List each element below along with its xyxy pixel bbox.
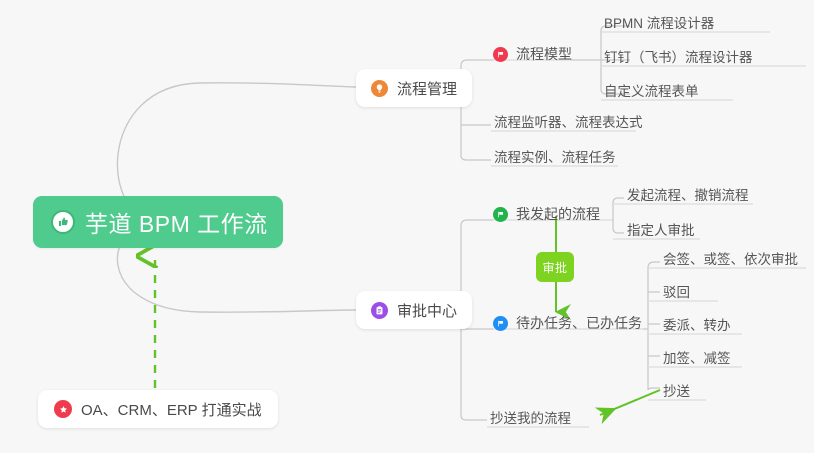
mindmap-canvas: 芋道 BPM 工作流 流程管理 审批中心	[0, 0, 814, 453]
leaf-assigned-approval[interactable]: 指定人审批	[627, 219, 695, 239]
connector-todo-to-cc	[648, 388, 660, 390]
leaf-custom-form[interactable]: 自定义流程表单	[604, 80, 699, 100]
leaf-label-instance-task: 流程实例、流程任务	[494, 146, 616, 166]
leaf-label-bpmn-designer: BPMN 流程设计器	[604, 12, 714, 32]
leaf-cc-to-me[interactable]: 抄送我的流程	[490, 407, 571, 427]
connector-pm-to-model	[461, 60, 493, 66]
connector-pm-to-instance	[461, 155, 491, 160]
lightbulb-icon	[371, 80, 388, 97]
leaf-dingtalk-designer[interactable]: 钉钉（飞书）流程设计器	[604, 46, 753, 66]
node-label-process-model: 流程模型	[516, 44, 572, 64]
leaf-label-assigned-approval: 指定人审批	[627, 219, 695, 239]
connector-ac-to-cc-mine	[461, 415, 487, 420]
branch-node-process-management[interactable]: 流程管理	[356, 69, 472, 107]
leaf-label-reject: 驳回	[663, 281, 690, 301]
flag-red-icon	[493, 47, 508, 62]
leaf-listener-expression[interactable]: 流程监听器、流程表达式	[494, 111, 643, 131]
leaf-label-custom-form: 自定义流程表单	[604, 80, 699, 100]
leaf-label-dingtalk-designer: 钉钉（飞书）流程设计器	[604, 46, 753, 66]
footer-node-label: OA、CRM、ERP 打通实战	[81, 399, 262, 420]
leaf-label-cc: 抄送	[663, 380, 690, 400]
root-label: 芋道 BPM 工作流	[85, 205, 268, 239]
flag-green-icon	[493, 207, 508, 222]
leaf-reject[interactable]: 驳回	[663, 281, 690, 301]
connector-initiated-to-launch	[613, 198, 624, 203]
leaf-countersign[interactable]: 会签、或签、依次审批	[663, 248, 798, 268]
node-label-todo-done: 待办任务、已办任务	[516, 313, 642, 333]
branch-label-approval-center: 审批中心	[397, 300, 457, 321]
leaf-label-cc-to-me: 抄送我的流程	[490, 407, 571, 427]
leaf-delegate-transfer[interactable]: 委派、转办	[663, 314, 731, 334]
leaf-label-launch-cancel: 发起流程、撤销流程	[627, 184, 749, 204]
node-process-model[interactable]: 流程模型	[493, 43, 572, 65]
approval-badge[interactable]: 审批	[536, 252, 574, 282]
leaf-label-delegate-transfer: 委派、转办	[663, 314, 731, 334]
star-icon	[54, 400, 72, 418]
clipboard-icon	[371, 302, 388, 319]
footer-node-integration[interactable]: OA、CRM、ERP 打通实战	[38, 390, 278, 428]
thumbs-up-icon	[51, 210, 75, 234]
node-label-my-initiated: 我发起的流程	[516, 204, 600, 224]
connector-initiated-to-assign	[613, 228, 624, 233]
leaf-instance-task[interactable]: 流程实例、流程任务	[494, 146, 616, 166]
leaf-label-listener-expression: 流程监听器、流程表达式	[494, 111, 643, 131]
leaf-add-remove-sign[interactable]: 加签、减签	[663, 347, 731, 367]
node-my-initiated[interactable]: 我发起的流程	[493, 203, 600, 225]
leaf-label-countersign: 会签、或签、依次审批	[663, 248, 798, 268]
flag-blue-icon	[493, 316, 508, 331]
leaf-label-add-remove-sign: 加签、减签	[663, 347, 731, 367]
connector-ac-to-initiated	[461, 220, 493, 226]
root-node[interactable]: 芋道 BPM 工作流	[33, 196, 283, 248]
approval-badge-label: 审批	[542, 259, 567, 276]
leaf-launch-cancel[interactable]: 发起流程、撤销流程	[627, 184, 749, 204]
leaf-bpmn-designer[interactable]: BPMN 流程设计器	[604, 12, 714, 32]
node-todo-done[interactable]: 待办任务、已办任务	[493, 312, 642, 334]
leaf-cc[interactable]: 抄送	[663, 380, 690, 400]
branch-label-process-management: 流程管理	[397, 78, 457, 99]
branch-node-approval-center[interactable]: 审批中心	[356, 291, 472, 329]
arrow-cc-to-cc-mine	[600, 390, 660, 415]
connector-todo-to-countersign	[648, 262, 660, 268]
